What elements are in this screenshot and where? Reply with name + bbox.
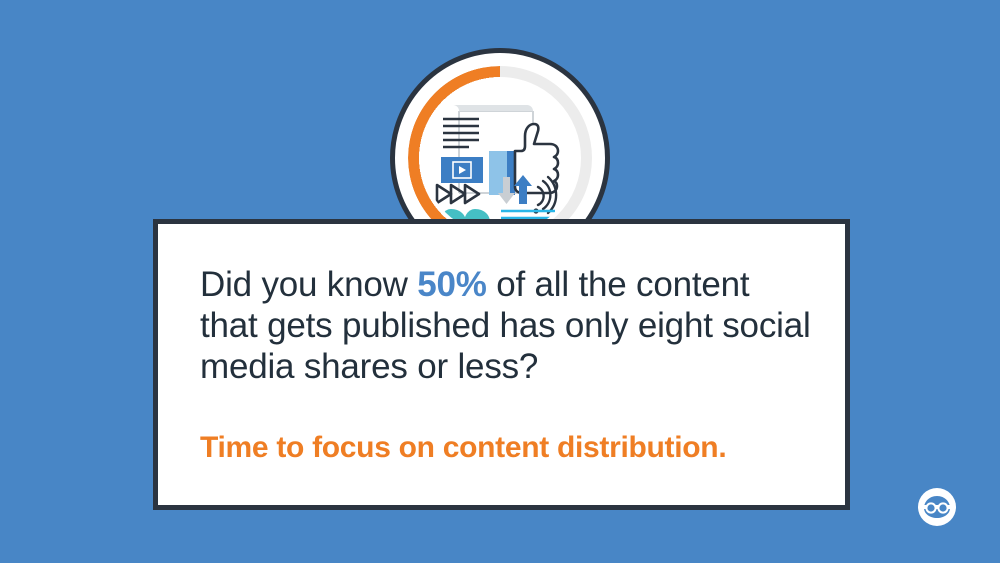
slide-canvas: Did you know 50% of all the content that… xyxy=(0,0,1000,563)
stat-value: 50% xyxy=(417,265,486,304)
video-play-icon xyxy=(441,157,483,183)
quote-card: Did you know 50% of all the content that… xyxy=(153,219,850,510)
call-to-action-text: Time to focus on content distribution. xyxy=(200,387,815,465)
brand-logo-icon xyxy=(917,487,957,527)
headline-before-stat: Did you know xyxy=(200,265,417,304)
badge-inner-face xyxy=(423,81,577,235)
headline: Did you know 50% of all the content that… xyxy=(200,264,815,387)
card-body: Did you know 50% of all the content that… xyxy=(200,264,815,465)
badge-icon-collage xyxy=(423,81,577,235)
brand-logo[interactable] xyxy=(917,487,957,527)
